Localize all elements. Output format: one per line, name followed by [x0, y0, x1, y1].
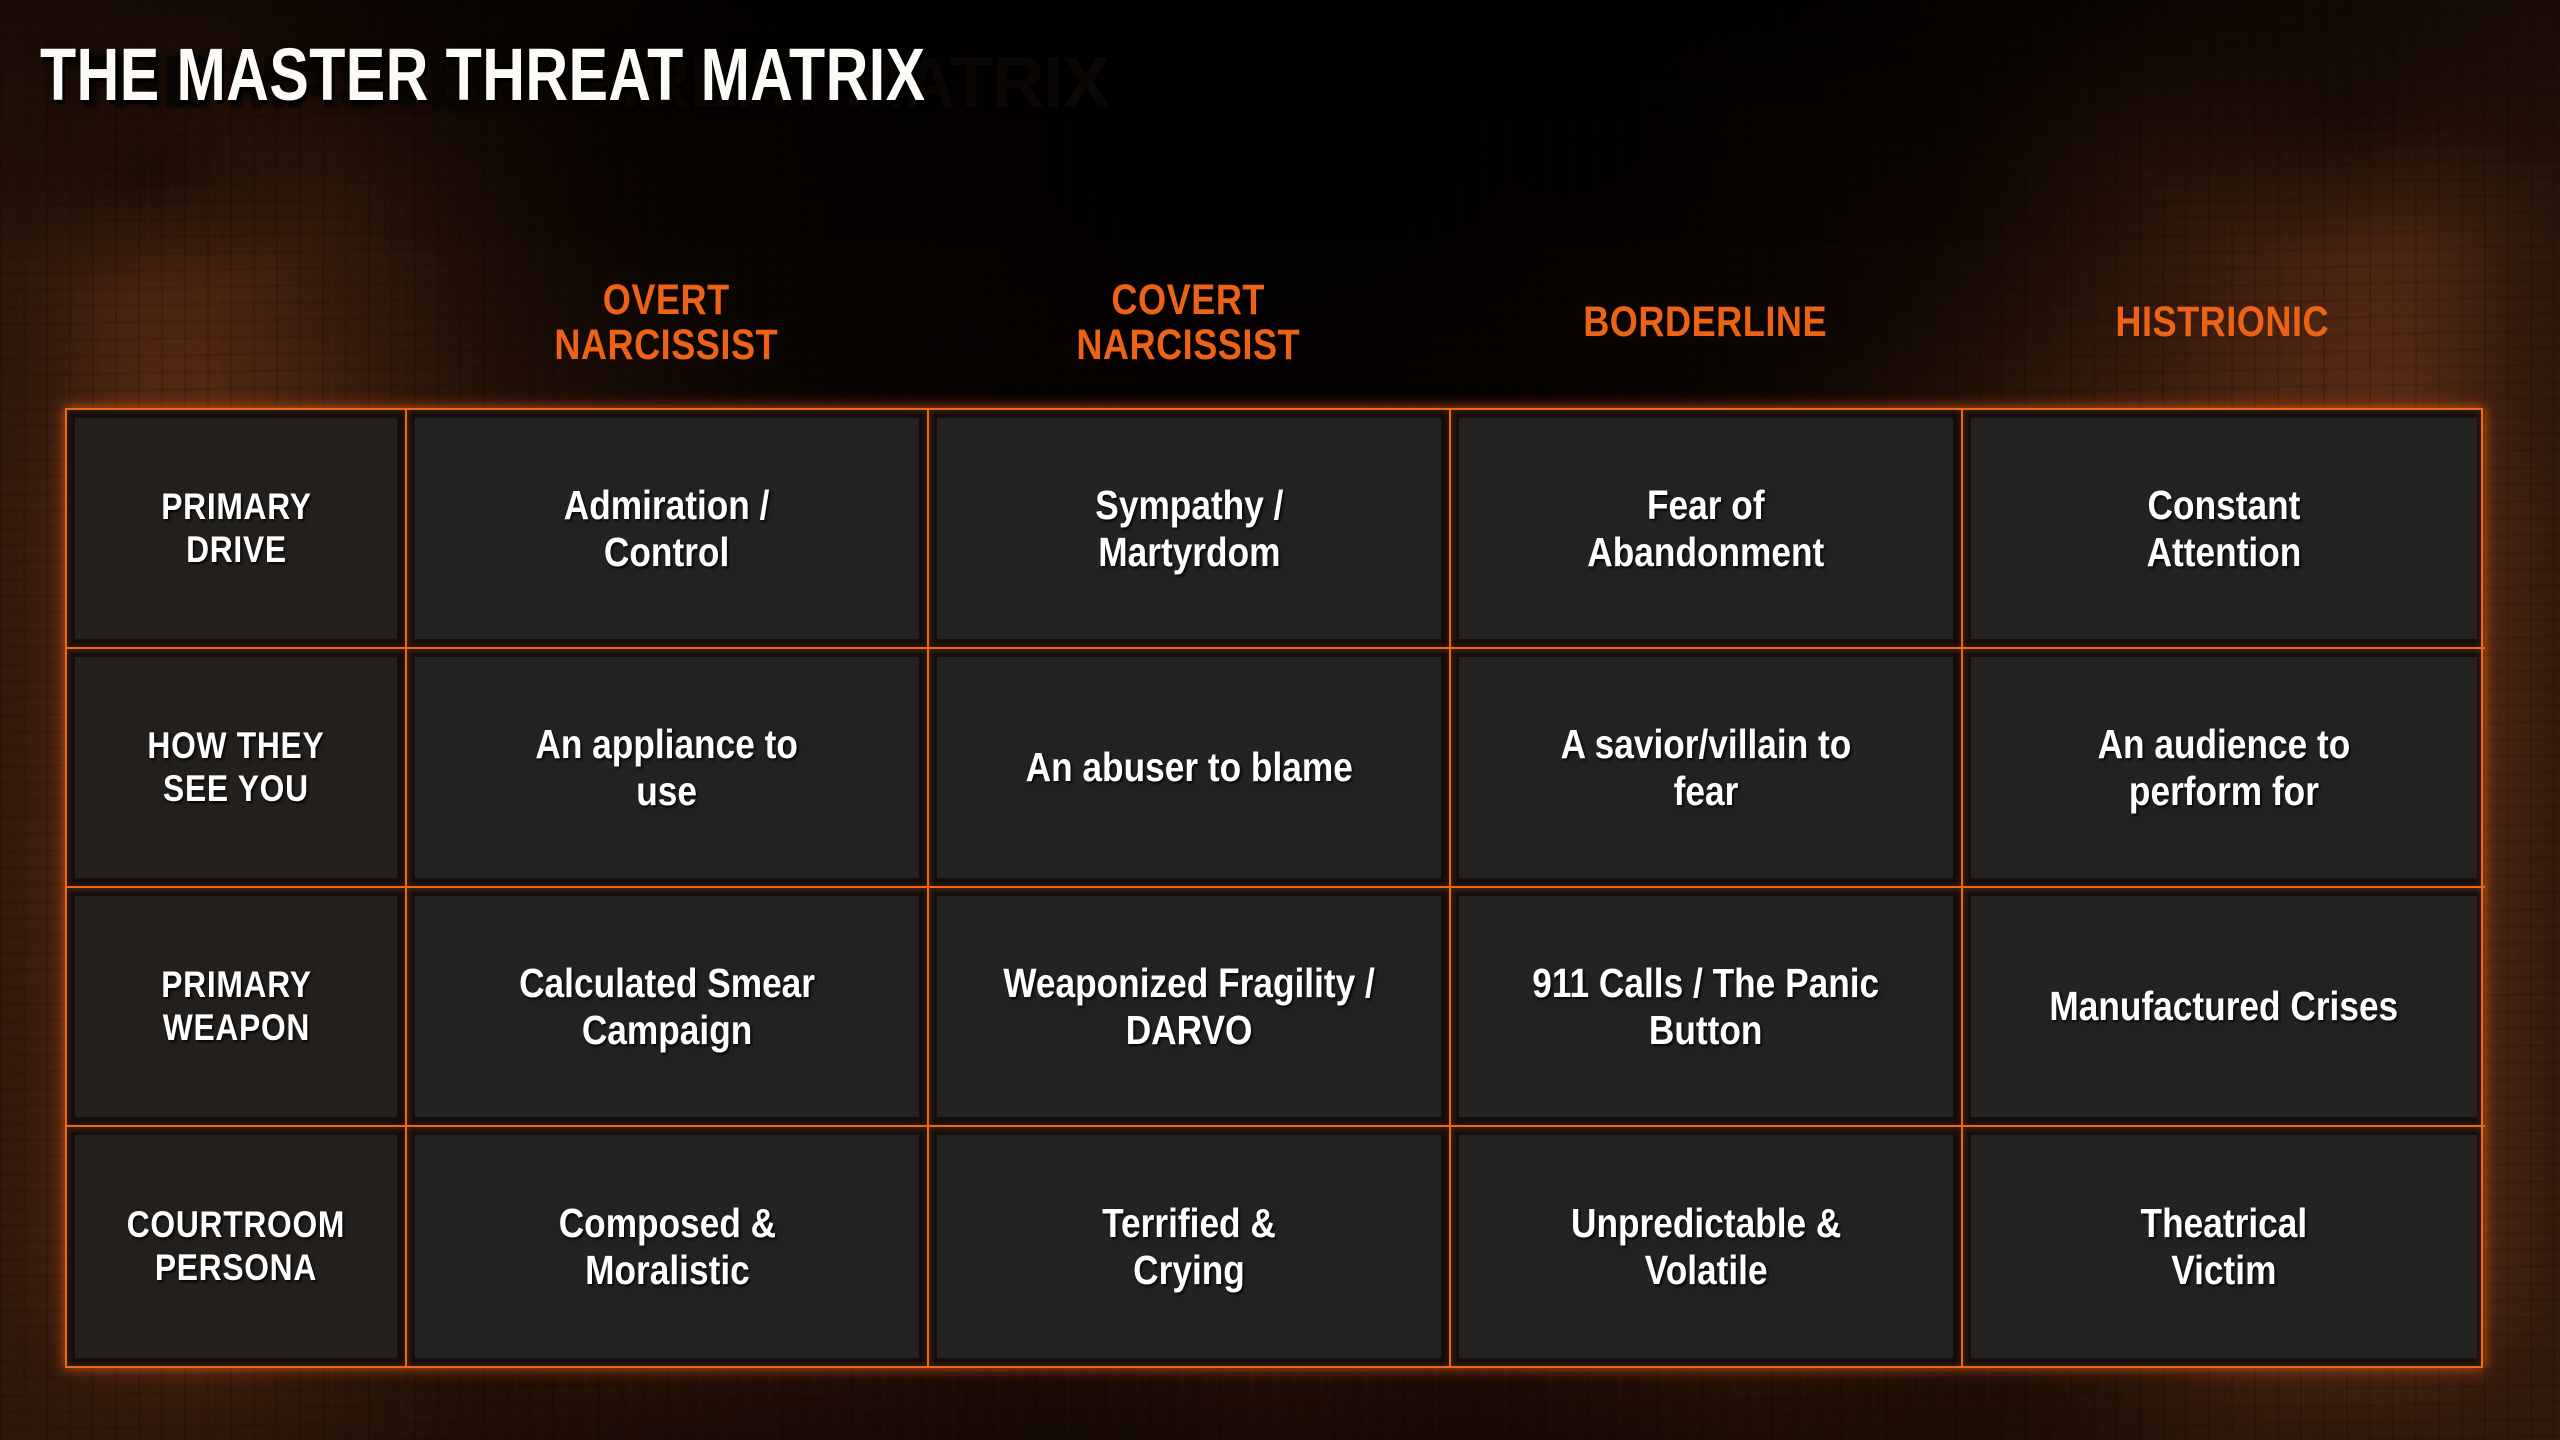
cell-primary-drive-overt: Admiration / Control [407, 410, 929, 649]
cell-how-they-see-you-covert: An abuser to blame [929, 649, 1451, 888]
cell-how-they-see-you-borderline: A savior/villain to fear [1451, 649, 1963, 888]
cell-primary-weapon-covert: Weaponized Fragility / DARVO [929, 888, 1451, 1127]
column-header-covert: COVERT NARCISSIST [927, 245, 1449, 400]
cell-primary-drive-histrionic: Constant Attention [1963, 410, 2485, 649]
matrix-column-headers: OVERT NARCISSIST COVERT NARCISSIST BORDE… [65, 245, 2483, 400]
row-label-text: HOW THEY SEE YOU [135, 725, 336, 809]
cell-text: A savior/villain to fear [1549, 721, 1864, 814]
cell-courtroom-persona-histrionic: Theatrical Victim [1963, 1127, 2485, 1366]
column-header-borderline: BORDERLINE [1449, 245, 1961, 400]
cell-text: Sympathy / Martyrdom [1083, 482, 1295, 575]
column-header-overt: OVERT NARCISSIST [405, 245, 927, 400]
cell-primary-weapon-borderline: 911 Calls / The Panic Button [1451, 888, 1963, 1127]
cell-primary-drive-covert: Sympathy / Martyrdom [929, 410, 1451, 649]
row-label-cell: HOW THEY SEE YOU [67, 649, 407, 888]
cell-text: An appliance to use [524, 721, 811, 814]
column-header-covert-text: COVERT NARCISSIST [1076, 278, 1300, 367]
cell-text: Constant Attention [2135, 482, 2314, 575]
cell-text: Fear of Abandonment [1575, 482, 1836, 575]
cell-text: Terrified & Crying [1090, 1200, 1288, 1293]
cell-primary-drive-borderline: Fear of Abandonment [1451, 410, 1963, 649]
row-label-text: PRIMARY WEAPON [149, 964, 323, 1048]
cell-courtroom-persona-borderline: Unpredictable & Volatile [1451, 1127, 1963, 1366]
cell-text: An abuser to blame [1013, 744, 1364, 791]
cell-how-they-see-you-histrionic: An audience to perform for [1963, 649, 2485, 888]
column-header-overt-text: OVERT NARCISSIST [554, 278, 778, 367]
row-label-cell: PRIMARY WEAPON [67, 888, 407, 1127]
row-label-cell: COURTROOM PERSONA [67, 1127, 407, 1366]
row-label-cell: PRIMARY DRIVE [67, 410, 407, 649]
cell-text: Unpredictable & Volatile [1559, 1200, 1853, 1293]
cell-text: An audience to perform for [2086, 721, 2363, 814]
page-title-text: THE MASTER THREAT MATRIX [40, 36, 926, 114]
column-header-borderline-text: BORDERLINE [1583, 300, 1827, 345]
cell-how-they-see-you-overt: An appliance to use [407, 649, 929, 888]
cell-text: Calculated Smear Campaign [507, 960, 827, 1053]
column-header-row-label [65, 245, 405, 400]
cell-primary-weapon-histrionic: Manufactured Crises [1963, 888, 2485, 1127]
cell-text: Weaponized Fragility / DARVO [991, 960, 1387, 1053]
row-label-text: PRIMARY DRIVE [149, 486, 323, 570]
cell-courtroom-persona-overt: Composed & Moralistic [407, 1127, 929, 1366]
row-label-text: COURTROOM PERSONA [115, 1204, 357, 1288]
cell-courtroom-persona-covert: Terrified & Crying [929, 1127, 1451, 1366]
cell-primary-weapon-overt: Calculated Smear Campaign [407, 888, 929, 1127]
cell-text: Theatrical Victim [2129, 1200, 2320, 1293]
cell-text: Composed & Moralistic [546, 1200, 788, 1293]
cell-text: 911 Calls / The Panic Button [1521, 960, 1892, 1053]
threat-matrix-table: PRIMARY DRIVE Admiration / Control Sympa… [65, 408, 2483, 1368]
column-header-histrionic: HISTRIONIC [1961, 245, 2483, 400]
column-header-histrionic-text: HISTRIONIC [2115, 300, 2329, 345]
cell-text: Manufactured Crises [2038, 983, 2411, 1030]
cell-text: Admiration / Control [552, 482, 782, 575]
